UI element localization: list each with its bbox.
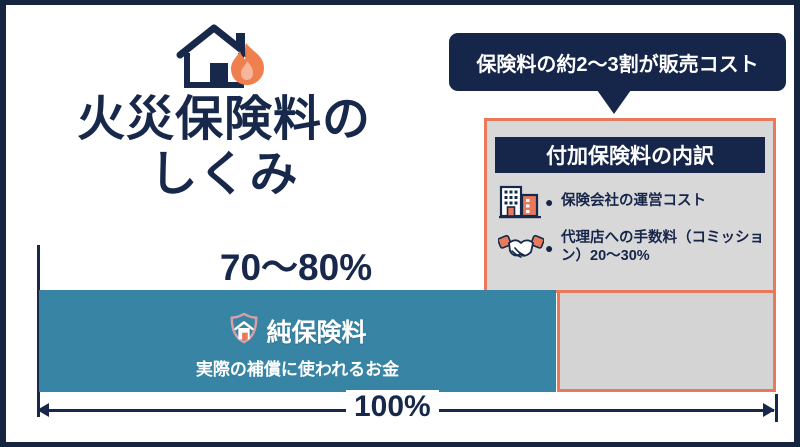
bar-pure-premium: 純保険料 実際の補償に使われるお金: [39, 290, 556, 392]
callout-pointer-icon: [597, 90, 631, 114]
bar-label-row: 純保険料: [39, 312, 556, 349]
breakdown-header-text: 付加保険料の内訳: [546, 140, 714, 170]
title-line-1: 火災保険料の: [24, 93, 424, 148]
title-line-2: しくみ: [24, 148, 424, 203]
house-flame-icon: [174, 23, 270, 95]
pure-premium-value-label: 70〜80%: [37, 237, 555, 291]
axis-end-tick: [775, 394, 778, 422]
breakdown-header: 付加保険料の内訳: [495, 137, 765, 173]
shield-house-icon: [228, 312, 260, 349]
breakdown-item-label: 保険会社の運営コスト: [559, 192, 706, 210]
bullet-icon: ●: [545, 193, 559, 209]
total-value-label: 100%: [346, 390, 439, 424]
bar-loading-premium: [557, 290, 776, 392]
page-frame: 火災保険料の しくみ 保険料の約2〜3割が販売コスト 付加保険料の内訳: [6, 5, 794, 442]
infographic-canvas: 火災保険料の しくみ 保険料の約2〜3割が販売コスト 付加保険料の内訳: [0, 0, 800, 447]
page-title: 火災保険料の しくみ: [24, 93, 424, 202]
arrow-right-icon: [763, 403, 775, 417]
breakdown-item-label: 代理店への手数料（コミッション）20〜30%: [559, 229, 769, 265]
callout-bubble: 保険料の約2〜3割が販売コスト: [449, 33, 786, 91]
callout-text: 保険料の約2〜3割が販売コスト: [476, 48, 758, 77]
office-building-icon: [497, 181, 545, 221]
list-item: ● 保険会社の運営コスト: [497, 181, 769, 221]
bar-sublabel: 実際の補償に使われるお金: [39, 355, 556, 380]
arrow-left-icon: [37, 403, 49, 417]
bar-label-text: 純保険料: [266, 313, 366, 349]
